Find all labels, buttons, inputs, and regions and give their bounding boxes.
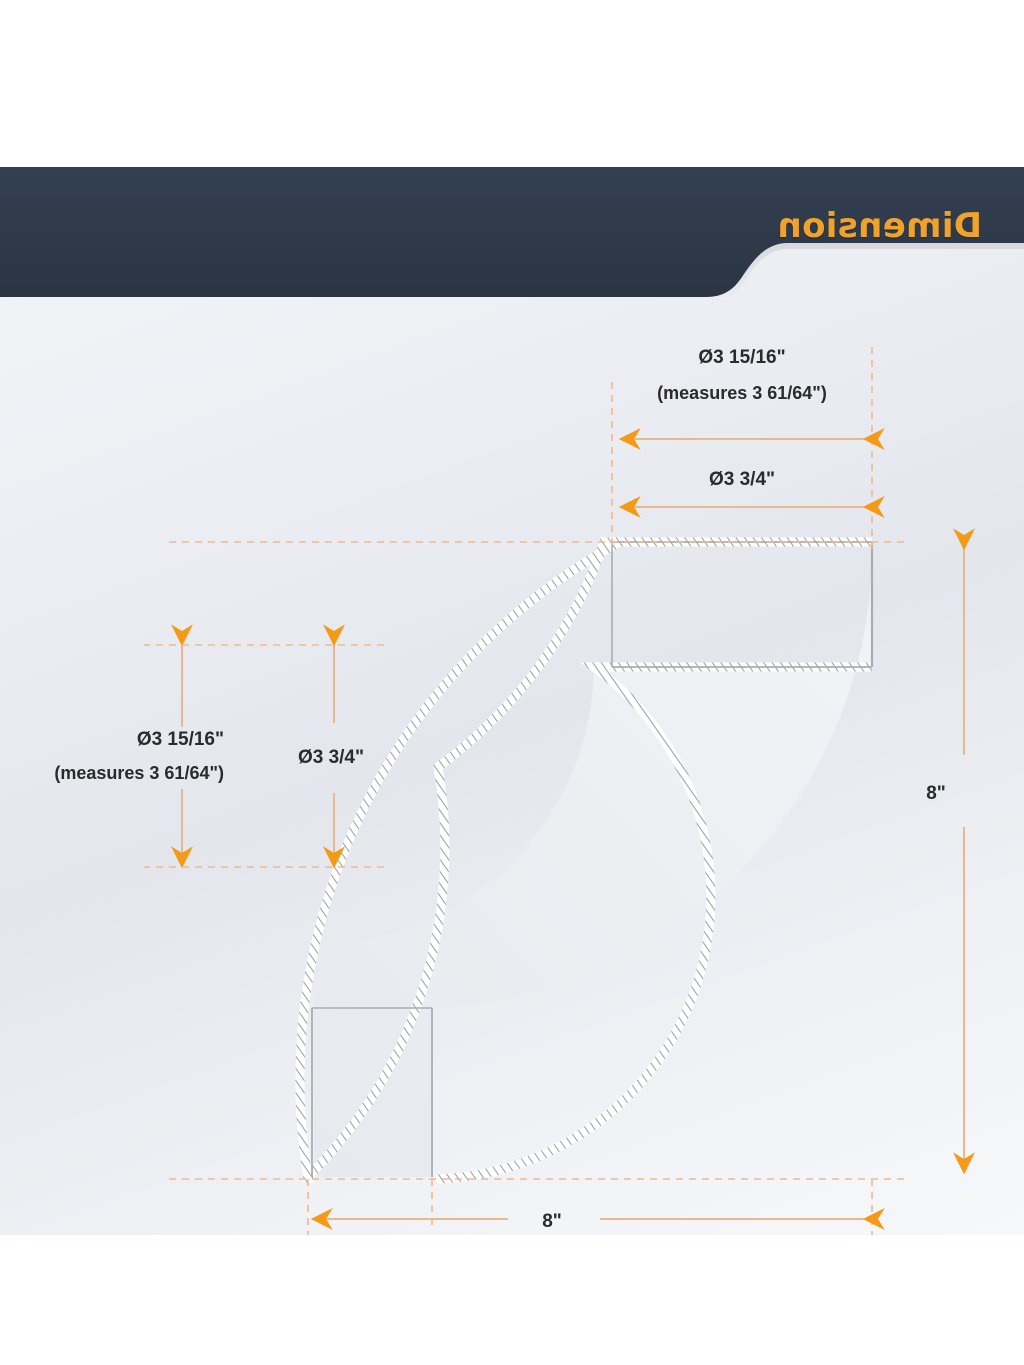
dimension-top-outer-diameter: Ø3 15/16" (measures 3 61/64") <box>620 347 864 439</box>
label-side-outer-diameter-line2: (measures 3 61/64") <box>54 763 224 783</box>
label-side-outer-diameter-line1: Ø3 15/16" <box>137 729 224 750</box>
dimension-overall-length: 8" <box>312 1211 864 1232</box>
label-top-socket-diameter: Ø3 3/4" <box>709 469 775 490</box>
label-side-socket-diameter: Ø3 3/4" <box>298 747 364 768</box>
dimension-overall-height: 8" <box>926 549 964 1173</box>
label-overall-length: 8" <box>542 1211 562 1232</box>
label-top-outer-diameter-line2: (measures 3 61/64") <box>657 383 827 403</box>
dimension-top-socket-diameter: Ø3 3/4" <box>620 469 864 507</box>
mirrored-artwork-layer: Dimension <box>0 167 1024 1235</box>
dimension-side-outer-diameter: Ø3 15/16" (measures 3 61/64") <box>54 645 224 867</box>
dimension-diagram-page: Dimension <box>0 0 1024 1365</box>
elbow-body <box>300 542 872 1183</box>
label-top-outer-diameter-line1: Ø3 15/16" <box>698 347 785 368</box>
label-overall-height: 8" <box>926 783 946 804</box>
elbow-drawing: Ø3 15/16" (measures 3 61/64") Ø3 3/4" 8" <box>0 167 1024 1235</box>
diagram-canvas: Dimension <box>0 167 1024 1235</box>
